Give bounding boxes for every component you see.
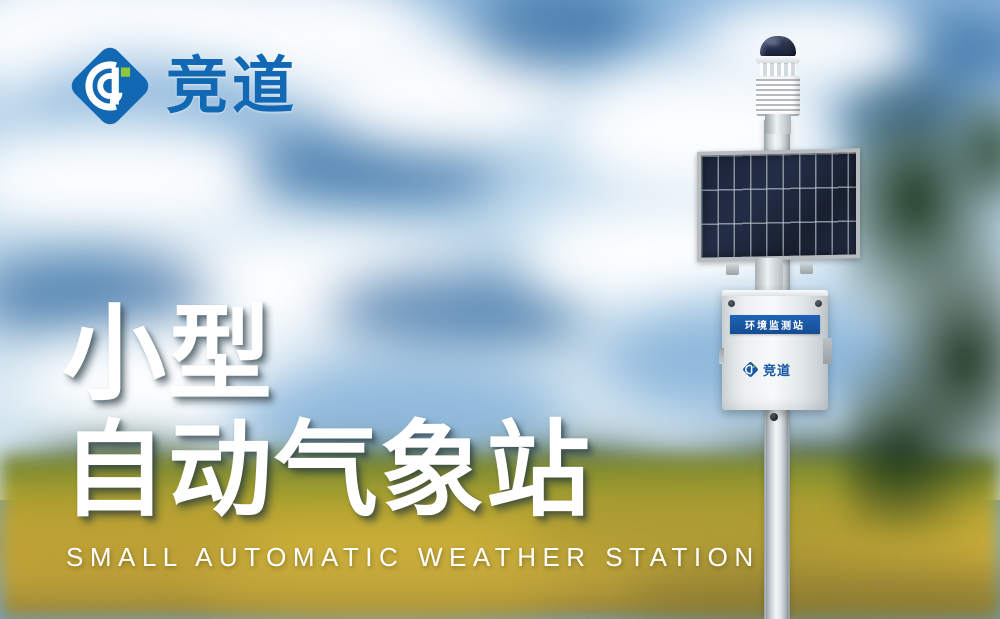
enclosure-side-vent — [823, 338, 832, 364]
sensor-neck — [765, 114, 791, 134]
brand-name: 竞道 — [166, 55, 298, 117]
solar-panel-bracket — [755, 258, 783, 292]
controller-enclosure: 环境监测站 竞道 — [722, 290, 828, 410]
mast-bolt — [770, 413, 778, 421]
enclosure-top-edge — [722, 290, 828, 296]
enclosure-screw — [728, 300, 735, 307]
headline-line-2: 自动气象站 — [62, 412, 592, 528]
jingdao-diamond-logo-icon — [68, 44, 152, 128]
subtitle: SMALL AUTOMATIC WEATHER STATION — [66, 542, 760, 573]
product-banner: 环境监测站 竞道 — [0, 0, 1000, 619]
louvered-radiation-shield — [756, 76, 800, 116]
panel-clamp — [800, 263, 813, 274]
headline: 小型 自动气象站 — [62, 296, 592, 529]
solar-panel-cells — [701, 152, 856, 257]
solar-panel — [697, 148, 860, 261]
enclosure-label: 环境监测站 — [730, 315, 820, 334]
sensor-dome-icon — [760, 36, 796, 58]
enclosure-latch — [719, 348, 724, 364]
ultrasonic-weather-sensor — [748, 36, 808, 132]
sensor-posts — [760, 63, 796, 77]
panel-clamp — [726, 264, 739, 275]
brand-logo: 竞道 — [68, 44, 298, 128]
enclosure-brand-logo: 竞道 — [742, 360, 791, 379]
enclosure-brand-name: 竞道 — [763, 360, 791, 379]
enclosure-screw — [815, 300, 822, 307]
headline-line-1: 小型 — [62, 296, 592, 412]
mounting-mast-lower — [766, 410, 788, 619]
jingdao-diamond-logo-icon — [742, 361, 759, 378]
